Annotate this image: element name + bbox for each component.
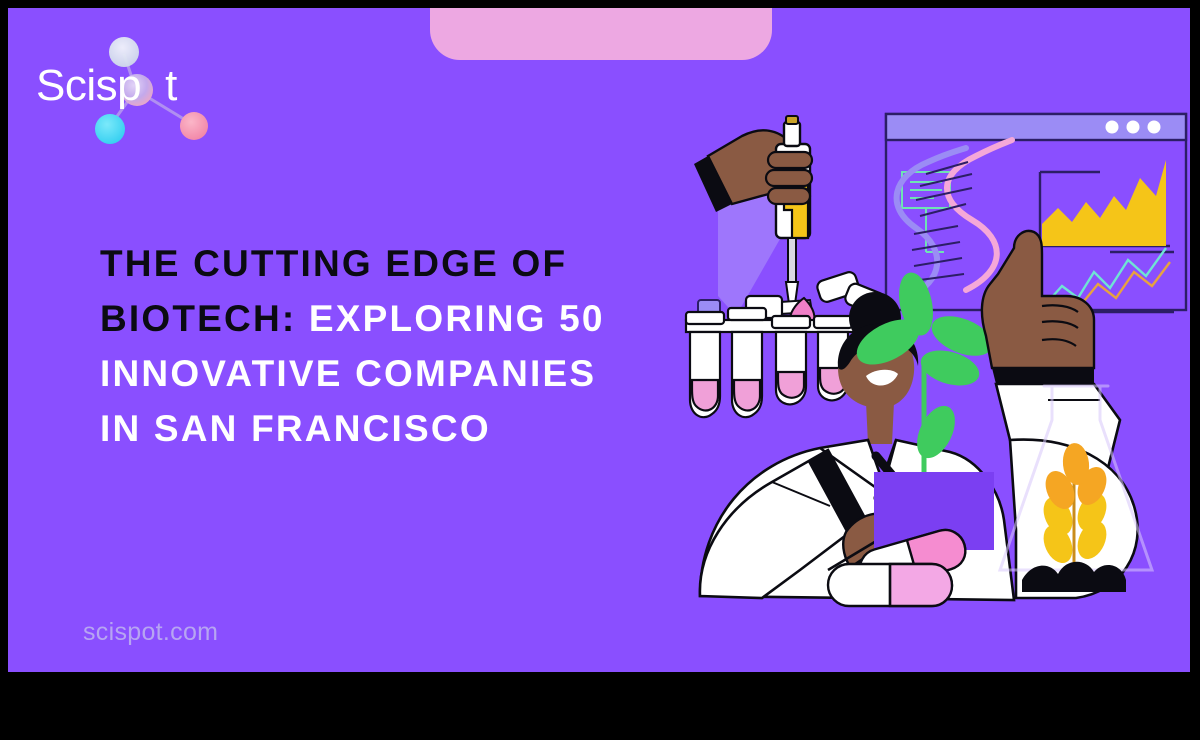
title-line-2-dark: BIOTECH:: [100, 298, 296, 339]
logo-text-node-o: o: [141, 61, 165, 110]
poster-root: Scispot THE CUTTING EDGE OF BIOTECH: EXP…: [0, 0, 1200, 740]
poster-canvas: Scispot THE CUTTING EDGE OF BIOTECH: EXP…: [8, 8, 1190, 672]
dna-helix-icon: [897, 140, 1012, 296]
title-line-2-light: [296, 298, 308, 339]
title-line-4: IN SAN FRANCISCO: [100, 401, 700, 456]
test-tube-rack-icon: [686, 296, 860, 417]
title-line-2: BIOTECH: EXPLORING 50: [100, 291, 700, 346]
pipette-hand-icon: [694, 116, 812, 316]
page-title: THE CUTTING EDGE OF BIOTECH: EXPLORING 5…: [100, 236, 700, 456]
biotech-illustration-svg: [680, 100, 1190, 612]
title-line-1: THE CUTTING EDGE OF: [100, 236, 700, 291]
title-line-3: INNOVATIVE COMPANIES: [100, 346, 700, 401]
site-url-label[interactable]: scispot.com: [83, 618, 218, 647]
logo-text-after: t: [165, 61, 177, 110]
top-pink-tab-decoration: [430, 8, 772, 60]
logo-wordmark: Scispot: [36, 64, 177, 108]
title-line-2-light-text: EXPLORING 50: [309, 298, 605, 339]
logo-text-before: Scisp: [36, 61, 141, 110]
area-chart-icon: [1040, 160, 1170, 246]
biotech-lab-illustration: [680, 100, 1190, 612]
scispot-logo[interactable]: Scispot: [26, 22, 226, 147]
